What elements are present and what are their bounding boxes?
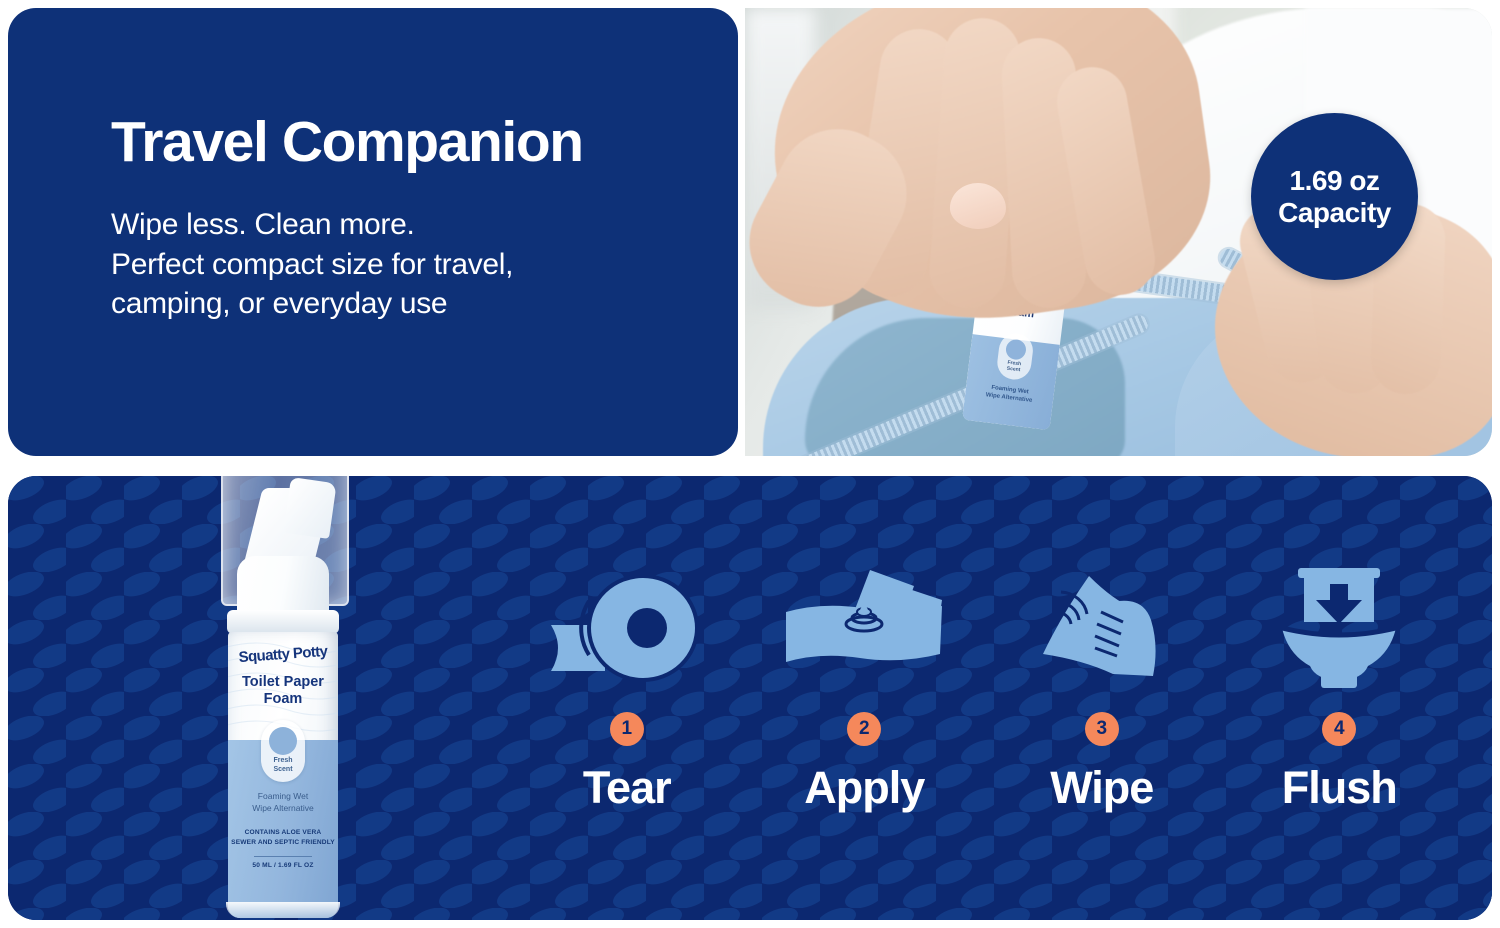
toilet-flush-icon [1274, 568, 1404, 688]
bottle-claim-line-1: CONTAINS ALOE VERA [245, 829, 322, 836]
capacity-badge-text: 1.69 oz Capacity [1278, 165, 1391, 229]
step-wipe: 3 Wipe [983, 476, 1221, 920]
product-bottle: Squatty Potty Toilet Paper Foam Fresh Sc… [199, 476, 364, 920]
bottle-product-name: Toilet Paper Foam [228, 674, 338, 709]
step-label-3: Wipe [1050, 762, 1153, 814]
leaf-icon [269, 727, 297, 755]
steps-row: 1 Tear 2 Apply [508, 476, 1458, 920]
bottle-label: Squatty Potty Toilet Paper Foam Fresh Sc… [228, 632, 338, 918]
toilet-paper-roll-icon [547, 568, 707, 688]
capacity-value: 1.69 oz [1290, 165, 1380, 196]
hero-panel: Travel Companion Wipe less. Clean more. … [8, 8, 738, 456]
bottle-claim-line-2: SEWER AND SEPTIC FRIENDLY [231, 839, 335, 846]
step-apply: 2 Apply [746, 476, 984, 920]
step-tear: 1 Tear [508, 476, 746, 920]
bottle-scent-line-1: Fresh [273, 757, 292, 764]
step-number-2: 2 [847, 712, 881, 746]
hero-subtitle-line-3: camping, or everyday use [111, 287, 447, 320]
step-number-1: 1 [610, 712, 644, 746]
bottle-size-text: 50 ML / 1.69 FL OZ [228, 862, 338, 869]
hand-applying-foam-icon [784, 568, 944, 688]
bottle-descriptor: Foaming Wet Wipe Alternative [228, 790, 338, 815]
lifestyle-photo: Squatty Potty Toilet Paper Foam Fresh Sc… [745, 8, 1492, 456]
bottle-name-line-1: Toilet Paper [242, 674, 324, 690]
bottle-scent-line-2: Scent [273, 766, 292, 773]
bottle-descriptor-line-2: Wipe Alternative [252, 803, 313, 813]
bottle-descriptor-line-1: Foaming Wet [258, 791, 308, 801]
page-title: Travel Companion [111, 114, 711, 171]
step-flush: 4 Flush [1221, 476, 1459, 920]
capacity-label: Capacity [1278, 197, 1391, 228]
bottle-claims: CONTAINS ALOE VERA SEWER AND SEPTIC FRIE… [228, 828, 338, 848]
hand-wiping-paper-icon [1027, 568, 1177, 688]
bottle-base [226, 902, 340, 918]
bottle-name-line-2: Foam [264, 691, 303, 707]
photo-bottle-scent-text: Fresh Scent [996, 358, 1031, 375]
bottle-collar-ring [227, 610, 339, 634]
bottle-scent-badge: Fresh Scent [261, 720, 305, 782]
hero-subtitle-line-2: Perfect compact size for travel, [111, 248, 513, 281]
leaf-icon [1005, 338, 1027, 360]
step-label-4: Flush [1282, 762, 1397, 814]
capacity-badge: 1.69 oz Capacity [1251, 113, 1418, 280]
step-number-4: 4 [1322, 712, 1356, 746]
bottle-scent-text: Fresh Scent [261, 756, 305, 774]
step-label-2: Apply [804, 762, 924, 814]
top-section: Travel Companion Wipe less. Clean more. … [8, 8, 1492, 456]
bottle-pump-spout [283, 477, 336, 539]
bottle-label-divider [254, 856, 312, 857]
how-to-use-panel: Squatty Potty Toilet Paper Foam Fresh Sc… [8, 476, 1492, 920]
step-label-1: Tear [583, 762, 671, 814]
hero-text-block: Travel Companion Wipe less. Clean more. … [111, 114, 711, 324]
hero-subtitle-line-1: Wipe less. Clean more. [111, 208, 415, 241]
hero-subtitle: Wipe less. Clean more. Perfect compact s… [111, 205, 711, 324]
step-number-3: 3 [1085, 712, 1119, 746]
